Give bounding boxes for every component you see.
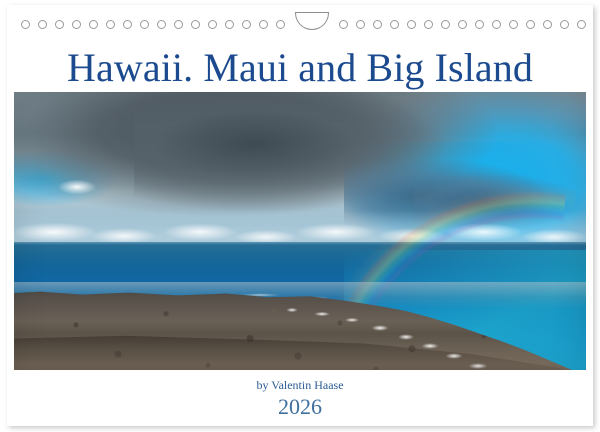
punch-hole (577, 20, 586, 29)
coastline-surf (264, 296, 586, 370)
punch-hole (458, 20, 467, 29)
footer-band: by Valentin Haase 2026 (7, 370, 593, 426)
author-credit: by Valentin Haase (7, 379, 593, 392)
cover-photo (14, 92, 586, 370)
punch-hole (407, 20, 416, 29)
punch-hole (543, 20, 552, 29)
punch-hole (509, 20, 518, 29)
punch-hole (55, 20, 64, 29)
punch-hole (339, 20, 348, 29)
punch-hole (560, 20, 569, 29)
punch-hole (208, 20, 217, 29)
punch-hole (21, 20, 30, 29)
punch-hole (373, 20, 382, 29)
punch-hole (475, 20, 484, 29)
punch-hole (356, 20, 365, 29)
calendar-cover-page: Hawaii. Maui and Big Island by Valentin … (7, 5, 593, 426)
punch-hole (123, 20, 132, 29)
punch-hole (191, 20, 200, 29)
punch-hole (106, 20, 115, 29)
punch-hole (259, 20, 268, 29)
binding-hole-strip (7, 5, 593, 43)
punch-hole (526, 20, 535, 29)
punch-hole (492, 20, 501, 29)
punch-hole (276, 20, 285, 29)
punch-hole (89, 20, 98, 29)
punch-hole (38, 20, 47, 29)
punch-hole (242, 20, 251, 29)
title-band: Hawaii. Maui and Big Island (7, 43, 593, 92)
page-title: Hawaii. Maui and Big Island (67, 48, 533, 88)
calendar-year: 2026 (7, 395, 593, 419)
punch-hole (140, 20, 149, 29)
punch-hole (157, 20, 166, 29)
white-cloud-puff (50, 176, 104, 198)
hanger-hole (295, 13, 329, 30)
punch-hole (390, 20, 399, 29)
punch-hole (424, 20, 433, 29)
punch-hole (441, 20, 450, 29)
punch-hole (174, 20, 183, 29)
punch-hole (225, 20, 234, 29)
punch-hole (72, 20, 81, 29)
